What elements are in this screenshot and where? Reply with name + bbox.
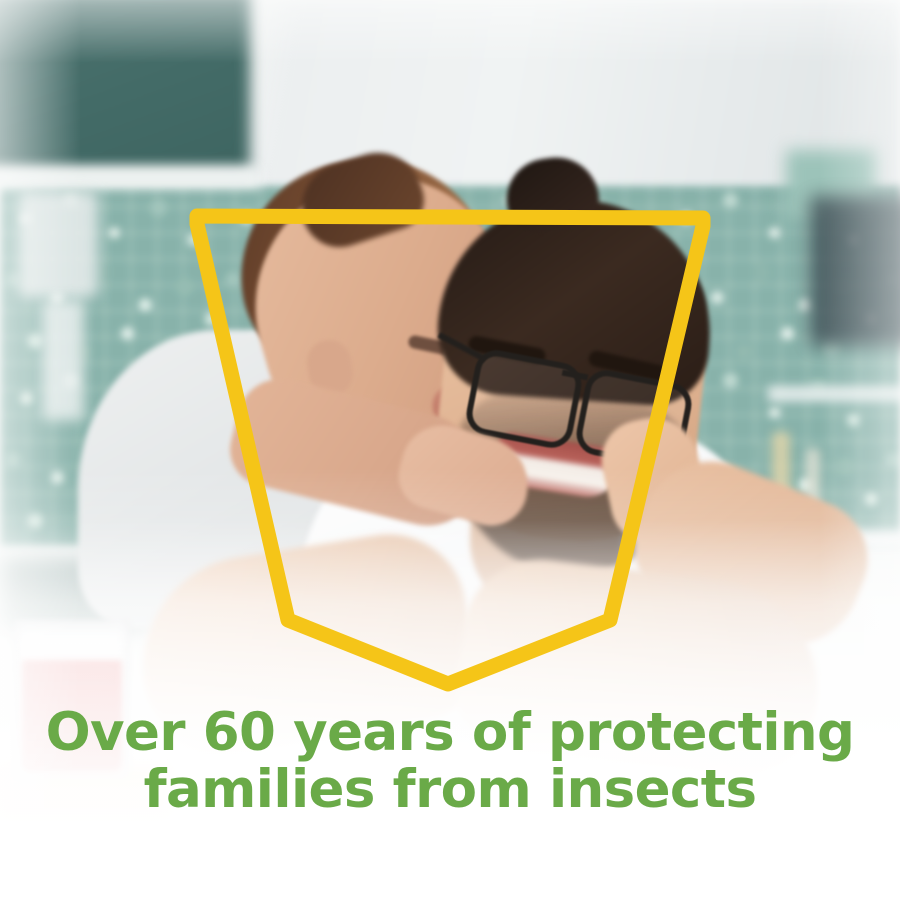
kitchen-fixture-left-lower <box>42 300 84 420</box>
cabinet-edge <box>0 166 260 188</box>
wall-shelf-upper <box>768 386 900 402</box>
tile-dark-patch <box>810 196 900 346</box>
headline-line-1: Over 60 years of protecting <box>0 704 900 761</box>
promo-banner: Over 60 years of protecting families fro… <box>0 0 900 900</box>
kitchen-cabinet <box>0 0 250 172</box>
headline: Over 60 years of protecting families fro… <box>0 704 900 818</box>
headline-line-2: families from insects <box>0 761 900 818</box>
kitchen-fixture-left-upper <box>18 190 98 298</box>
